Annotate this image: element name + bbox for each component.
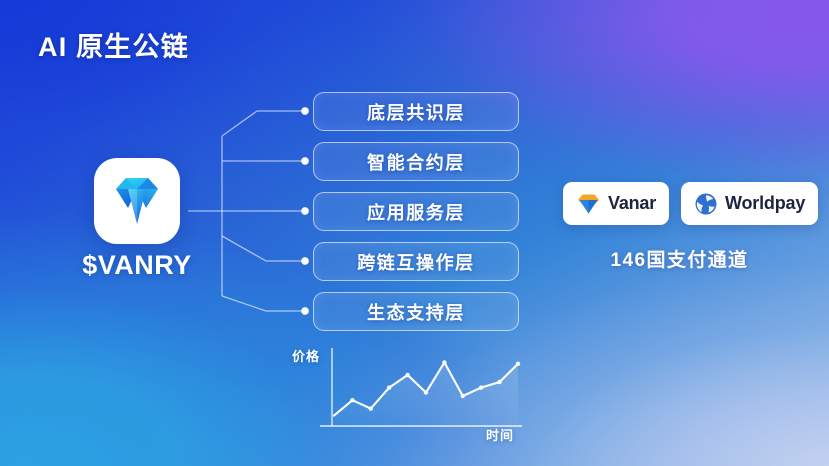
partner-name: Worldpay	[725, 193, 805, 214]
chart-data-point	[442, 360, 446, 364]
payment-channel-caption: 146国支付通道	[563, 245, 796, 272]
layer-label: 底层共识层	[367, 99, 465, 125]
layer-label: 智能合约层	[367, 149, 465, 175]
chart-data-point	[387, 385, 391, 389]
layer-box-smart-contract[interactable]: 智能合约层	[313, 142, 519, 181]
layer-box-ecosystem[interactable]: 生态支持层	[313, 292, 519, 331]
token-ticker: $VANRY	[64, 250, 210, 281]
vanar-diamond-icon	[576, 192, 601, 216]
layer-label: 应用服务层	[367, 199, 465, 225]
slide-canvas: AI 原生公链	[0, 0, 829, 466]
layer-box-consensus[interactable]: 底层共识层	[313, 92, 519, 131]
chart-data-point	[350, 398, 354, 402]
chart-data-point	[497, 380, 501, 384]
layer-label: 生态支持层	[367, 299, 465, 325]
chart-data-point	[461, 394, 465, 398]
chart-data-point	[369, 406, 373, 410]
layer-label: 跨链互操作层	[357, 249, 475, 275]
partner-badge-worldpay[interactable]: Worldpay	[681, 182, 818, 225]
chart-x-axis-label: 时间	[486, 425, 514, 444]
logo-tile	[94, 158, 180, 244]
worldpay-aperture-icon	[694, 192, 718, 216]
chart-y-axis-label: 价格	[292, 346, 320, 365]
partner-badge-vanar[interactable]: Vanar	[563, 182, 669, 225]
brand-logo-block: $VANRY	[94, 158, 180, 244]
diamond-gem-icon	[108, 174, 166, 228]
chart-data-point	[479, 385, 483, 389]
chart-data-point	[424, 390, 428, 394]
partner-badges: Vanar Worldpay	[563, 182, 818, 225]
layer-box-application-service[interactable]: 应用服务层	[313, 192, 519, 231]
page-title: AI 原生公链	[38, 25, 189, 64]
price-trend-chart: 价格 时间	[290, 340, 540, 450]
chart-data-point	[405, 373, 409, 377]
layer-box-cross-chain[interactable]: 跨链互操作层	[313, 242, 519, 281]
chart-data-point	[516, 362, 520, 366]
partner-name: Vanar	[608, 193, 656, 214]
